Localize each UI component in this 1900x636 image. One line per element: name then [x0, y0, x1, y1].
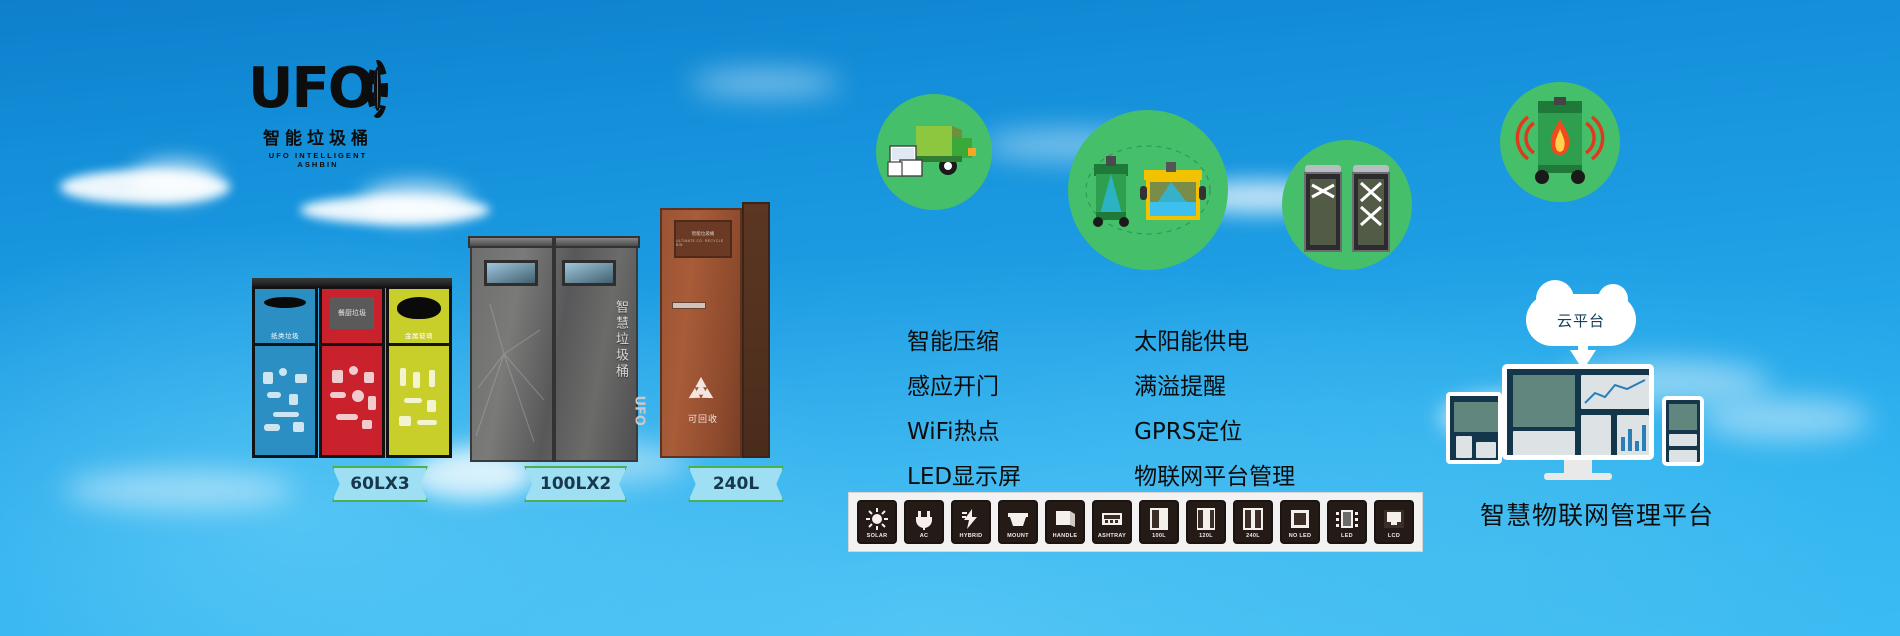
- feature-item: 太阳能供电: [1099, 322, 1295, 356]
- monitor-icon: [872, 332, 891, 347]
- capacity-banner-60lx3: 60LX3: [332, 466, 428, 502]
- spec-chip-label: NO LED: [1289, 533, 1312, 540]
- hero-banner: UFO 智能垃圾桶 UFO INTELLIGENT ASHBIN 纸类垃圾: [0, 0, 1900, 636]
- ufo-ring-icon: [367, 60, 388, 118]
- bin-waste-pictograms: [389, 346, 449, 455]
- feature-label: 物联网平台管理: [1134, 457, 1295, 491]
- lcd-icon: [1376, 506, 1412, 532]
- bin-vertical-label: 智慧垃圾桶: [611, 300, 630, 380]
- spec-chip-label: AC: [920, 533, 929, 540]
- feature-item: LED显示屏: [872, 457, 1021, 491]
- product-three-bin-unit: 纸类垃圾 餐厨垃圾: [252, 278, 452, 460]
- spec-chip-100l[interactable]: 100L: [1139, 500, 1179, 544]
- ac-plug-icon: [906, 506, 942, 532]
- hybrid-power-icon: [953, 506, 989, 532]
- bin-waste-pictograms: [322, 346, 382, 455]
- feature-item: GPRS定位: [1099, 412, 1295, 446]
- bin-front-panel: 智能垃圾桶 ULTIMATE CO. RECYCLE BIN 可回收: [660, 208, 742, 458]
- capacity-label: 100LX2: [540, 474, 611, 494]
- feature-item: 满溢提醒: [1099, 367, 1295, 401]
- monitor-icon: [1099, 467, 1118, 482]
- bin-waste-pictograms: [255, 346, 315, 455]
- spec-chip-label: 240L: [1246, 533, 1260, 540]
- feature-label: 智能压缩: [907, 322, 999, 356]
- ashtray-icon: [1094, 506, 1130, 532]
- bin-100l-icon: [1141, 506, 1177, 532]
- circle-twin-bin: [1282, 140, 1412, 270]
- spec-icon-bar: SOLAR AC HYBRID MOUNT: [848, 492, 1423, 552]
- bin-slot-icon: [264, 297, 306, 308]
- bin-120l-icon: [1188, 506, 1224, 532]
- bin-side-panel: [742, 202, 770, 458]
- platform-caption: 智慧物联网管理平台: [1432, 496, 1762, 532]
- spec-chip-label: SOLAR: [867, 533, 888, 540]
- cloud-decoration: [64, 470, 294, 510]
- cloud-decoration: [60, 170, 230, 204]
- logo-chinese-name: 智能垃圾桶: [248, 124, 388, 149]
- spec-chip-label: ASHTRAY: [1098, 533, 1126, 540]
- spec-chip-240l[interactable]: 240L: [1233, 500, 1273, 544]
- bin-display-plate: 餐厨垃圾: [330, 297, 374, 329]
- bin-metal-glass: 金属玻璃: [386, 286, 452, 458]
- spec-chip-label: LCD: [1388, 533, 1400, 540]
- spec-chip-label: 120L: [1199, 533, 1213, 540]
- logo-wordmark: UFO: [248, 63, 373, 115]
- monitor-icon: [1099, 377, 1118, 392]
- bin-surface-pattern: [474, 296, 548, 446]
- bin-label: 纸类垃圾: [271, 330, 299, 340]
- monitor-icon: [872, 422, 891, 437]
- capacity-banner-100lx2: 100LX2: [524, 466, 627, 502]
- spec-chip-ashtray[interactable]: ASHTRAY: [1092, 500, 1132, 544]
- monitor-icon: [1099, 422, 1118, 437]
- collection-truck-icon: [886, 116, 982, 188]
- spec-chip-lcd[interactable]: LCD: [1374, 500, 1414, 544]
- feature-item: 智能压缩: [872, 322, 1021, 356]
- circle-fire-alarm: [1500, 82, 1620, 202]
- spec-chip-label: HYBRID: [960, 533, 983, 540]
- recycle-icon: [682, 374, 720, 408]
- bin-label: 金属玻璃: [405, 330, 433, 340]
- monitor-icon: [1099, 332, 1118, 347]
- spec-chip-label: 100L: [1152, 533, 1166, 540]
- feature-item: 感应开门: [872, 367, 1021, 401]
- solar-panel-icon: [859, 506, 895, 532]
- spec-chip-label: LED: [1341, 533, 1353, 540]
- feature-list: 智能压缩 感应开门 WiFi热点 LED显示屏 太阳能供电 满溢提醒: [872, 322, 1295, 491]
- screen-line-primary: 智能垃圾桶: [692, 231, 715, 237]
- handle-icon: [1047, 506, 1083, 532]
- capacity-label: 60LX3: [350, 474, 409, 494]
- cloud-decoration: [360, 182, 470, 222]
- cloud-decoration: [130, 160, 220, 200]
- feature-item: 物联网平台管理: [1099, 457, 1295, 491]
- bin-paper-waste: 纸类垃圾: [252, 286, 318, 458]
- bin-hole-icon: [397, 297, 441, 319]
- spec-chip-label: HANDLE: [1053, 533, 1078, 540]
- feature-item: WiFi热点: [872, 412, 1021, 446]
- circle-overflow-sensor: [1068, 110, 1228, 270]
- monitor-icon: [872, 377, 891, 392]
- bin-card-slot: [672, 302, 706, 309]
- spec-chip-label: MOUNT: [1007, 533, 1029, 540]
- bin-deposit-window: [484, 260, 538, 286]
- led-icon: [1329, 506, 1365, 532]
- spec-chip-hybrid[interactable]: HYBRID: [951, 500, 991, 544]
- phone-device: [1662, 396, 1704, 466]
- feature-label: 满溢提醒: [1134, 367, 1226, 401]
- bin-kitchen-waste: 餐厨垃圾: [319, 286, 385, 458]
- bin-divider: [552, 236, 556, 462]
- monitor-base: [1544, 473, 1612, 480]
- product-two-bin-unit: 智慧垃圾桶 UFO: [470, 244, 638, 462]
- feature-label: 感应开门: [907, 367, 999, 401]
- feature-column-left: 智能压缩 感应开门 WiFi热点 LED显示屏: [872, 322, 1021, 491]
- spec-chip-ac[interactable]: AC: [904, 500, 944, 544]
- bin-sub-wordmark: UFO: [631, 396, 646, 427]
- spec-chip-120l[interactable]: 120L: [1186, 500, 1226, 544]
- spec-chip-handle[interactable]: HANDLE: [1045, 500, 1085, 544]
- wall-mount-icon: [1000, 506, 1036, 532]
- monitor-icon: [872, 467, 891, 482]
- no-led-icon: [1282, 506, 1318, 532]
- cloud-icon: 云平台: [1526, 294, 1636, 346]
- cloud-decoration: [300, 196, 490, 224]
- circle-collection-truck: [876, 94, 992, 210]
- spec-chip-no-led[interactable]: NO LED: [1280, 500, 1320, 544]
- line-chart-glyph: [1583, 377, 1647, 407]
- bin-info-screen: 智能垃圾桶 ULTIMATE CO. RECYCLE BIN: [674, 220, 732, 258]
- cloud-decoration: [690, 70, 840, 96]
- spec-chip-mount[interactable]: MOUNT: [998, 500, 1038, 544]
- twin-bin-icon: [1299, 155, 1395, 255]
- logo-english-tagline: UFO INTELLIGENT ASHBIN: [248, 151, 388, 169]
- bin-240l-icon: [1235, 506, 1271, 532]
- feature-label: 太阳能供电: [1134, 322, 1249, 356]
- bin-recycle-label: 可回收: [662, 412, 744, 425]
- feature-label: LED显示屏: [907, 457, 1021, 491]
- tablet-device: [1446, 392, 1502, 464]
- feature-column-right: 太阳能供电 满溢提醒 GPRS定位 物联网平台管理: [1099, 322, 1295, 491]
- screen-line-secondary: ULTIMATE CO. RECYCLE BIN: [676, 239, 730, 247]
- capacity-label: 240L: [713, 474, 759, 494]
- capacity-banner-240l: 240L: [688, 466, 784, 502]
- spec-chip-led[interactable]: LED: [1327, 500, 1367, 544]
- monitor-stand: [1564, 460, 1592, 474]
- brand-logo: UFO 智能垃圾桶 UFO INTELLIGENT ASHBIN: [248, 58, 388, 169]
- iot-platform-diagram: 云平台: [1440, 300, 1750, 490]
- bin-deposit-window: [562, 260, 616, 286]
- bin-label: 餐厨垃圾: [338, 308, 366, 318]
- bar-chart-glyph: [1619, 419, 1647, 453]
- feature-label: WiFi热点: [907, 412, 1000, 446]
- product-brown-bin: 智能垃圾桶 ULTIMATE CO. RECYCLE BIN 可回收: [660, 208, 770, 458]
- cloud-platform-label: 云平台: [1557, 310, 1605, 331]
- spec-chip-solar[interactable]: SOLAR: [857, 500, 897, 544]
- monitor-device: [1502, 364, 1654, 460]
- feature-label: GPRS定位: [1134, 412, 1242, 446]
- fire-alarm-icon: [1512, 97, 1608, 187]
- overflow-sensor-icon: [1078, 140, 1218, 240]
